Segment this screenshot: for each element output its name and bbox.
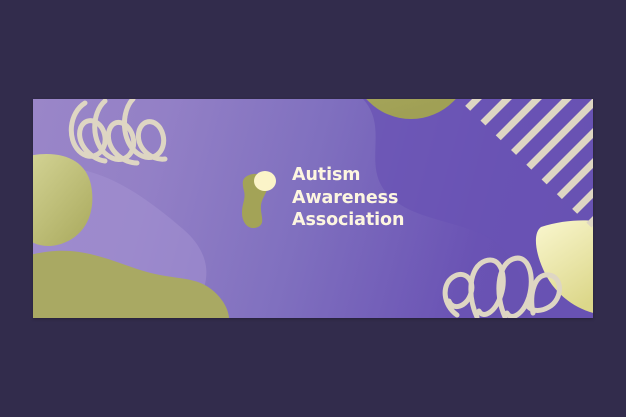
autism-awareness-blob-logo-icon: [236, 167, 280, 229]
banner: Autism Awareness Association: [33, 99, 593, 318]
wordmark-line-3: Association: [292, 212, 404, 230]
scribble-loops-top-left: [71, 99, 165, 163]
wordmark: Autism Awareness Association: [292, 167, 404, 230]
page-canvas: Autism Awareness Association: [0, 0, 626, 417]
logo-lockup: Autism Awareness Association: [236, 167, 404, 230]
wordmark-line-1: Autism: [292, 167, 404, 185]
wordmark-line-2: Awareness: [292, 190, 404, 208]
